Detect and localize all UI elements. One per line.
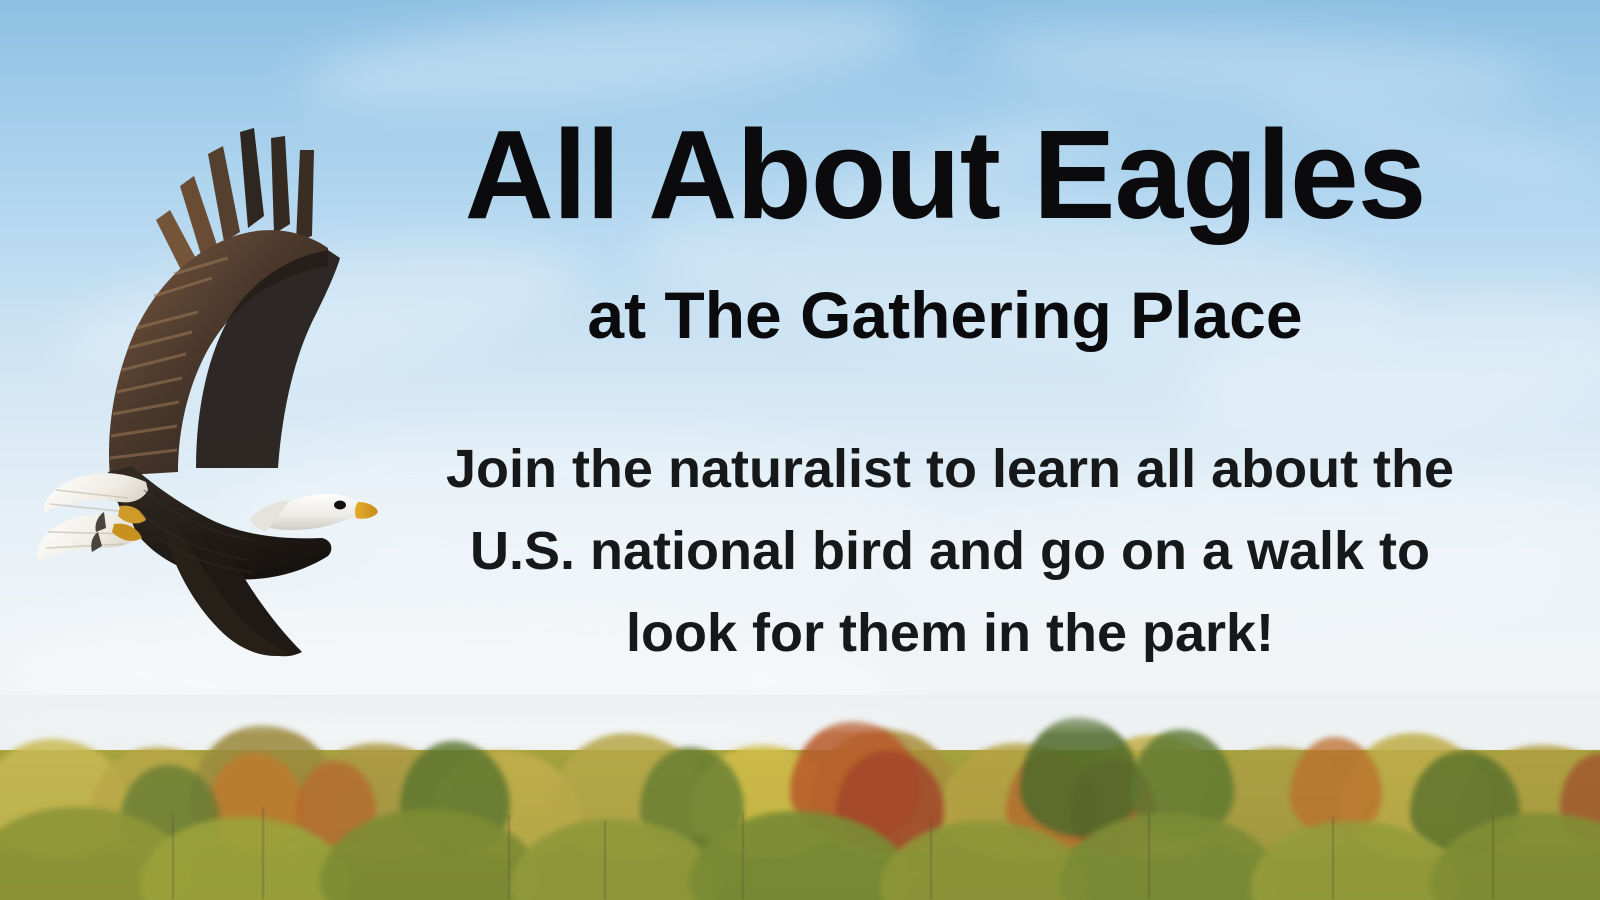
page-subtitle: at The Gathering Place	[300, 282, 1590, 348]
description-line-1: Join the naturalist to learn all about t…	[360, 428, 1540, 510]
tree-trunk	[508, 815, 510, 899]
tree-trunk	[1492, 813, 1494, 899]
description-line-2: U.S. national bird and go on a walk to	[360, 510, 1540, 592]
tree-trunk	[172, 813, 174, 899]
tree-trunk	[604, 821, 606, 899]
horizon-haze	[0, 695, 1600, 735]
eagle-eye	[334, 501, 346, 510]
tree-trunk	[1148, 811, 1150, 899]
autumn-treeline	[0, 695, 1600, 900]
page-title: All About Eagles	[313, 112, 1577, 238]
tree-trunk	[742, 813, 744, 899]
eagle-program-poster: All About Eagles at The Gathering Place …	[0, 0, 1600, 900]
description-line-3: look for them in the park!	[360, 592, 1540, 674]
cloud-wisp	[979, 15, 1542, 114]
tree-trunk	[1332, 817, 1334, 899]
program-description: Join the naturalist to learn all about t…	[360, 428, 1540, 674]
tree-trunk	[262, 807, 264, 899]
tree-trunk	[930, 819, 932, 899]
